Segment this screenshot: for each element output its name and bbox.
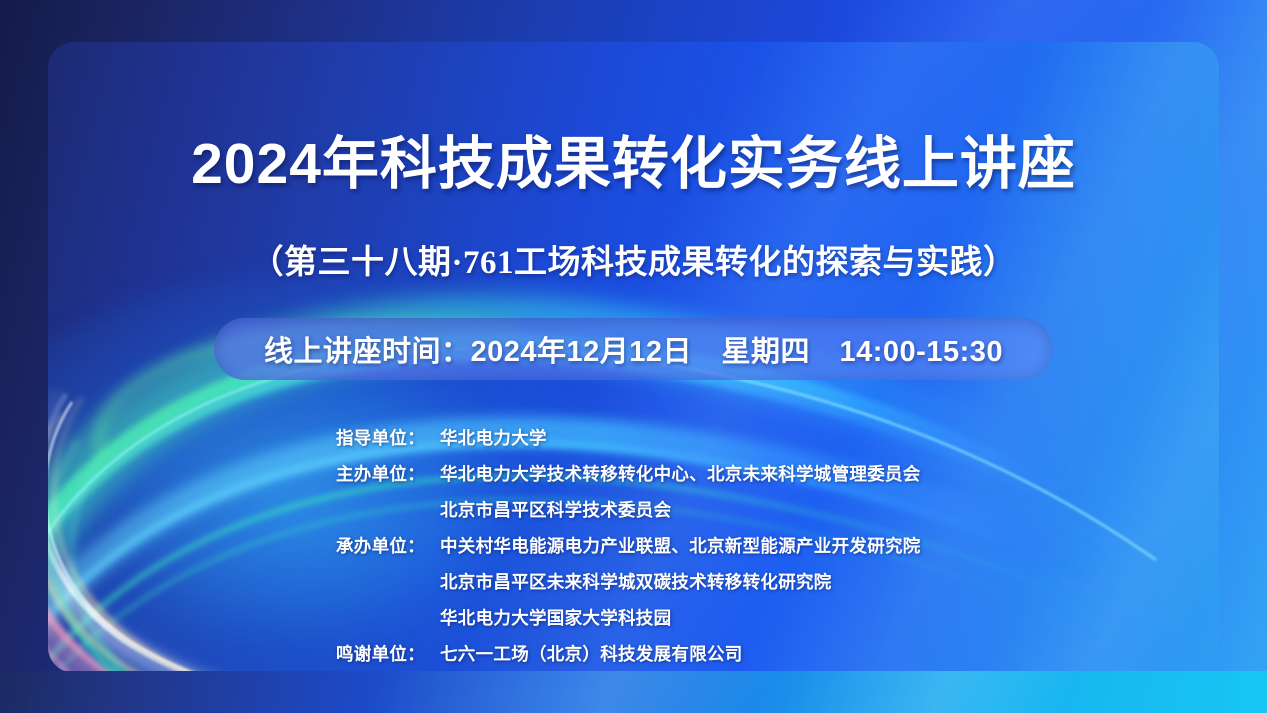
credit-row-thanks: 鸣谢单位： 七六一工场（北京）科技发展有限公司	[336, 641, 1156, 673]
credit-label: 鸣谢单位：	[336, 641, 440, 666]
time-banner-text: 线上讲座时间：2024年12月12日 星期四 14:00-15:30	[264, 328, 1003, 370]
credit-row-organizer: 承办单位： 中关村华电能源电力产业联盟、北京新型能源产业开发研究院	[336, 533, 1156, 569]
poster-canvas: 2024年科技成果转化实务线上讲座 （第三十八期·761工场科技成果转化的探索与…	[0, 0, 1267, 713]
inner-panel: 2024年科技成果转化实务线上讲座 （第三十八期·761工场科技成果转化的探索与…	[48, 42, 1219, 673]
credit-row-guidance: 指导单位： 华北电力大学	[336, 425, 1156, 461]
bottom-accent-band	[0, 671, 1267, 713]
credit-value: 北京市昌平区未来科学城双碳技术转移转化研究院	[440, 569, 1156, 594]
time-banner-pill: 线上讲座时间：2024年12月12日 星期四 14:00-15:30	[214, 318, 1053, 380]
credit-row-host: 主办单位： 华北电力大学技术转移转化中心、北京未来科学城管理委员会	[336, 461, 1156, 497]
credit-label: 指导单位：	[336, 425, 440, 450]
credit-value: 华北电力大学技术转移转化中心、北京未来科学城管理委员会	[440, 461, 1156, 486]
credits-list: 指导单位： 华北电力大学 主办单位： 华北电力大学技术转移转化中心、北京未来科学…	[336, 425, 1156, 673]
credit-row-organizer-cont-2: 华北电力大学国家大学科技园	[336, 605, 1156, 641]
page-subtitle: （第三十八期·761工场科技成果转化的探索与实践）	[48, 235, 1219, 283]
poster-content: 2024年科技成果转化实务线上讲座 （第三十八期·761工场科技成果转化的探索与…	[48, 42, 1219, 673]
credit-value: 华北电力大学	[440, 425, 1156, 450]
credit-label: 主办单位：	[336, 461, 440, 486]
time-banner-wrap: 线上讲座时间：2024年12月12日 星期四 14:00-15:30	[48, 318, 1219, 380]
page-title: 2024年科技成果转化实务线上讲座	[48, 134, 1219, 196]
credit-value: 华北电力大学国家大学科技园	[440, 605, 1156, 630]
credit-value: 中关村华电能源电力产业联盟、北京新型能源产业开发研究院	[440, 533, 1156, 558]
credit-row-organizer-cont-1: 北京市昌平区未来科学城双碳技术转移转化研究院	[336, 569, 1156, 605]
credit-row-host-cont: 北京市昌平区科学技术委员会	[336, 497, 1156, 533]
credit-value: 北京市昌平区科学技术委员会	[440, 497, 1156, 522]
credit-value: 七六一工场（北京）科技发展有限公司	[440, 641, 1156, 666]
credit-label: 承办单位：	[336, 533, 440, 558]
